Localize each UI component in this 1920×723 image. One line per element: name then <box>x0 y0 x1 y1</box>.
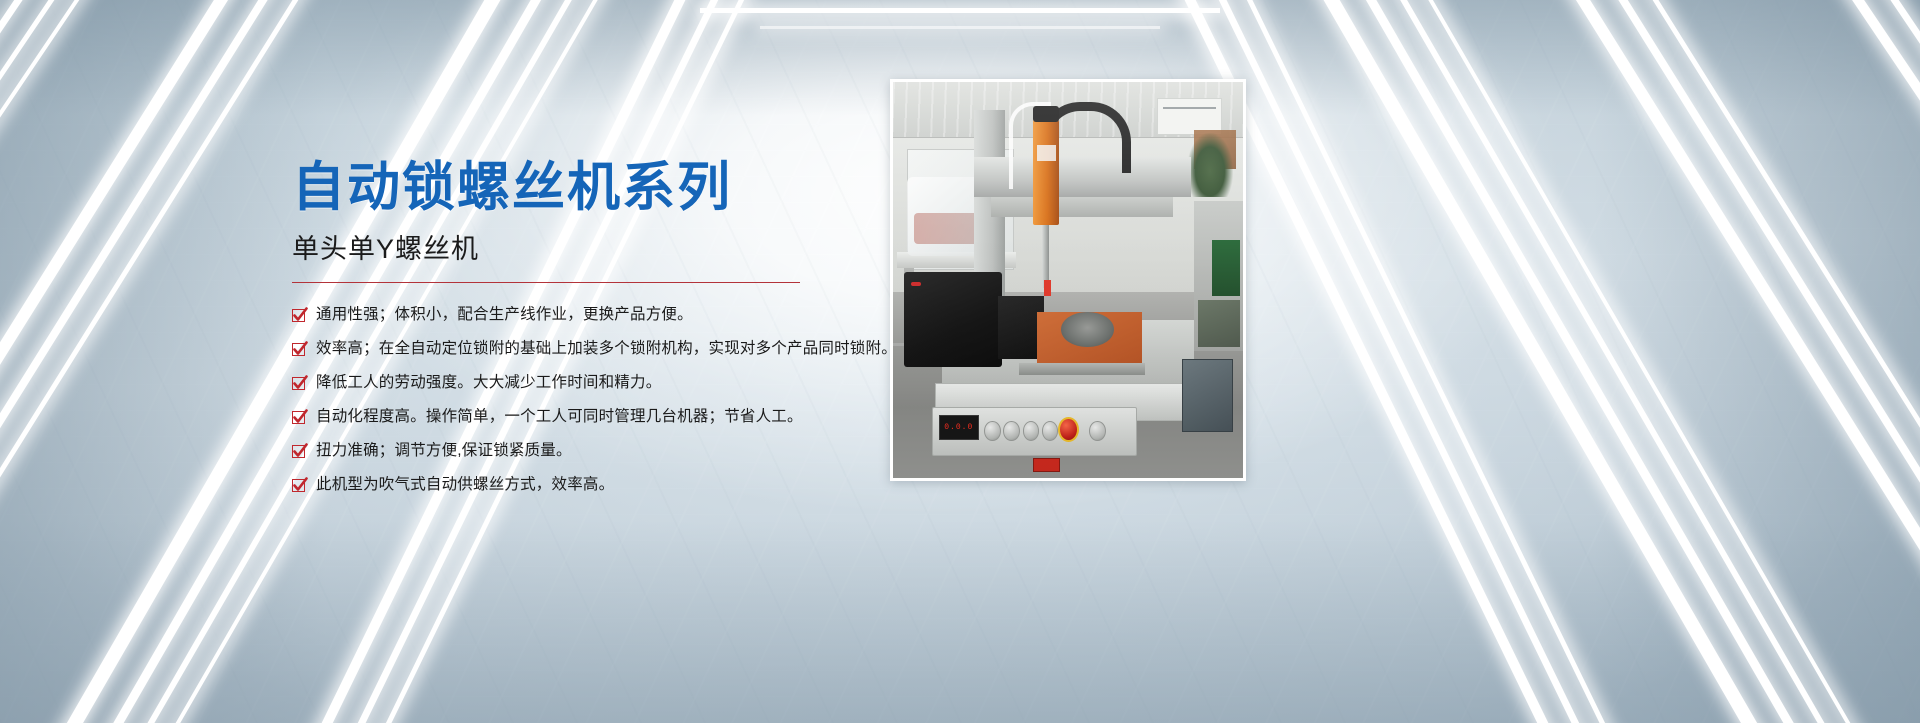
check-icon <box>292 343 305 356</box>
photo-light-wash <box>893 82 1243 478</box>
list-item: 此机型为吹气式自动供螺丝方式，效率高。 <box>292 475 902 496</box>
check-icon <box>292 309 305 322</box>
banner-content: 自动锁螺丝机系列 单头单Y螺丝机 通用性强；体积小，配合生产线作业，更换产品方便… <box>0 0 1920 723</box>
feature-list: 通用性强；体积小，配合生产线作业，更换产品方便。 效率高；在全自动定位锁附的基础… <box>292 305 902 496</box>
list-item: 扭力准确；调节方便,保证锁紧质量。 <box>292 441 902 462</box>
check-icon <box>292 377 305 390</box>
product-photo: 0.0.0 <box>893 82 1243 478</box>
feature-text: 自动化程度高。操作简单，一个工人可同时管理几台机器；节省人工。 <box>316 407 803 428</box>
feature-text: 降低工人的劳动强度。大大减少工作时间和精力。 <box>316 373 661 394</box>
text-column: 自动锁螺丝机系列 单头单Y螺丝机 通用性强；体积小，配合生产线作业，更换产品方便… <box>292 158 892 509</box>
check-icon <box>292 479 305 492</box>
check-icon <box>292 411 305 424</box>
list-item: 降低工人的劳动强度。大大减少工作时间和精力。 <box>292 373 902 394</box>
list-item: 效率高；在全自动定位锁附的基础上加装多个锁附机构，实现对多个产品同时锁附。 <box>292 339 902 360</box>
promo-banner: 自动锁螺丝机系列 单头单Y螺丝机 通用性强；体积小，配合生产线作业，更换产品方便… <box>0 0 1920 723</box>
product-photo-frame: 0.0.0 <box>890 79 1246 481</box>
page-subtitle: 单头单Y螺丝机 <box>292 233 892 265</box>
check-icon <box>292 445 305 458</box>
list-item: 通用性强；体积小，配合生产线作业，更换产品方便。 <box>292 305 902 326</box>
list-item: 自动化程度高。操作简单，一个工人可同时管理几台机器；节省人工。 <box>292 407 902 428</box>
page-title: 自动锁螺丝机系列 <box>292 158 892 219</box>
feature-text: 通用性强；体积小，配合生产线作业，更换产品方便。 <box>316 305 693 326</box>
title-divider <box>292 282 800 283</box>
feature-text: 此机型为吹气式自动供螺丝方式，效率高。 <box>316 475 614 496</box>
feature-text: 效率高；在全自动定位锁附的基础上加装多个锁附机构，实现对多个产品同时锁附。 <box>316 339 897 360</box>
feature-text: 扭力准确；调节方便,保证锁紧质量。 <box>316 441 572 462</box>
